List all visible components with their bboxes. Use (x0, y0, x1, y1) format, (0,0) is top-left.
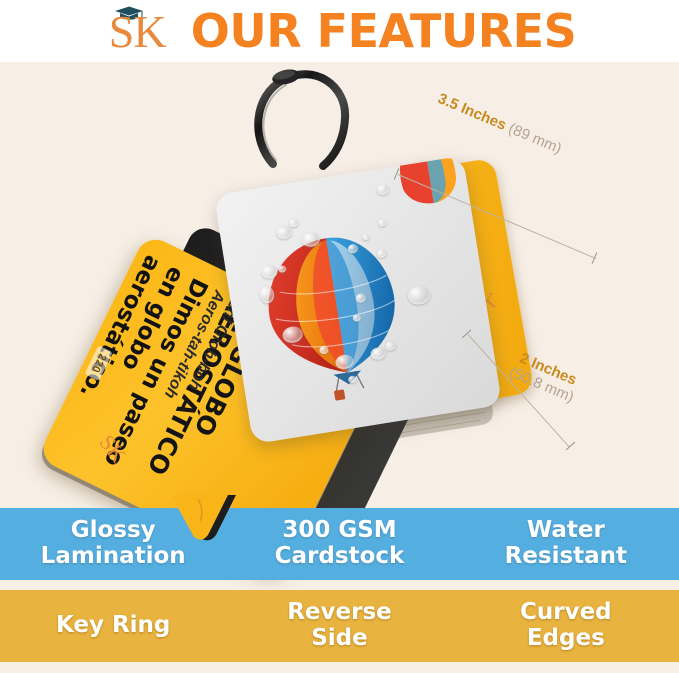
feature-line-2: Lamination (0, 544, 226, 570)
feature-300-gsm-cardstock: 300 GSM Cardstock (226, 518, 452, 570)
feature-line-1: 300 GSM (226, 518, 452, 544)
feature-water-resistant: Water Resistant (453, 518, 679, 570)
partial-balloon-illustration (388, 156, 469, 210)
feature-line-2: Edges (453, 626, 679, 652)
feature-line-1: Curved (453, 600, 679, 626)
feature-key-ring: Key Ring (0, 613, 226, 639)
feature-line-2: Resistant (453, 544, 679, 570)
water-droplet (376, 184, 389, 196)
water-droplet (289, 218, 299, 227)
dimension-width-value: 3.5 Inches (435, 90, 508, 134)
feature-line-2: Side (226, 626, 452, 652)
brand-text: SK (109, 9, 166, 55)
feature-curved-edges: Curved Edges (453, 600, 679, 652)
hot-air-balloon-illustration (250, 222, 428, 419)
feature-bar-primary: Glossy Lamination 300 GSM Cardstock Wate… (0, 508, 679, 580)
product-stage: ALLOON Buh-lun a ride in ot air balloon.… (0, 62, 679, 673)
brand-logo: SK (103, 5, 189, 57)
feature-line-1: Reverse (226, 600, 452, 626)
feature-bar-secondary: Key Ring Reverse Side Curved Edges (0, 590, 679, 662)
water-droplet (276, 226, 293, 240)
page-title: OUR FEATURES (191, 8, 576, 54)
metal-key-ring-icon (243, 62, 361, 178)
feature-reverse-side: Reverse Side (226, 600, 452, 652)
dimension-width-metric: (89 mm) (506, 120, 564, 157)
feature-line-1: Key Ring (0, 613, 226, 639)
page-header: SK OUR FEATURES (0, 0, 679, 62)
dimension-label-width: 3.5 Inches (89 mm) (435, 90, 564, 157)
feature-line-1: Water (453, 518, 679, 544)
feature-line-2: Cardstock (226, 544, 452, 570)
card-corner-overlap (172, 495, 238, 543)
